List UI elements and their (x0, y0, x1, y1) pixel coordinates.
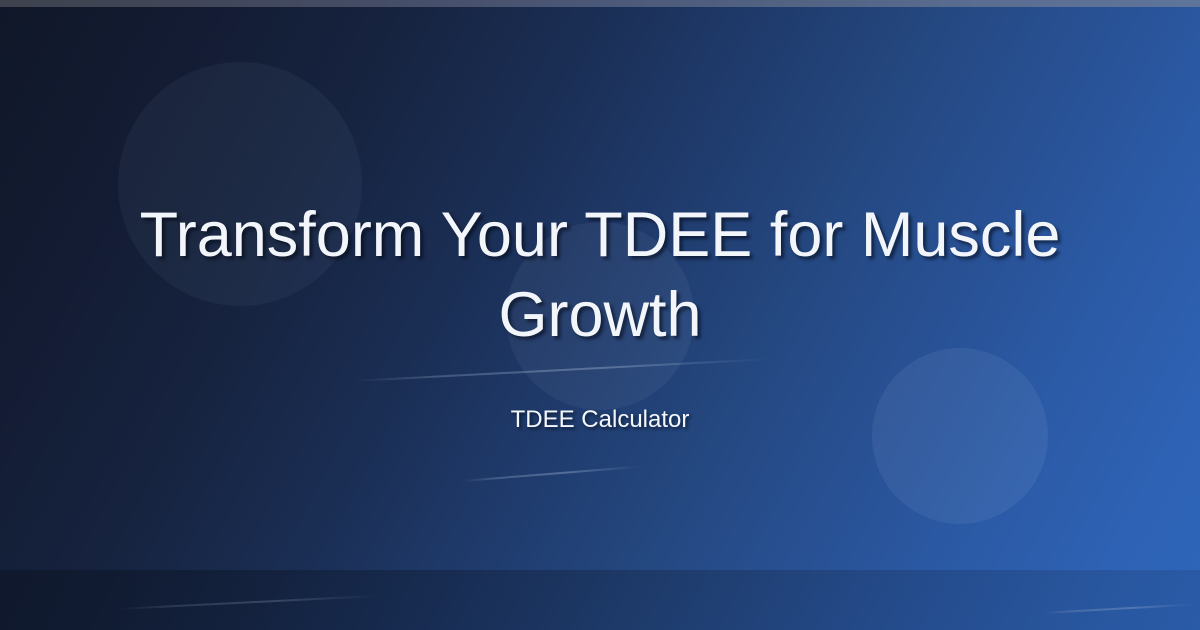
slide-subtitle: TDEE Calculator (511, 355, 690, 435)
slide-content: Transform Your TDEE for Muscle Growth TD… (0, 0, 1200, 630)
slide-title: Transform Your TDEE for Muscle Growth (120, 195, 1080, 355)
top-accent-strip (0, 0, 1200, 7)
title-slide: Transform Your TDEE for Muscle Growth TD… (0, 0, 1200, 630)
